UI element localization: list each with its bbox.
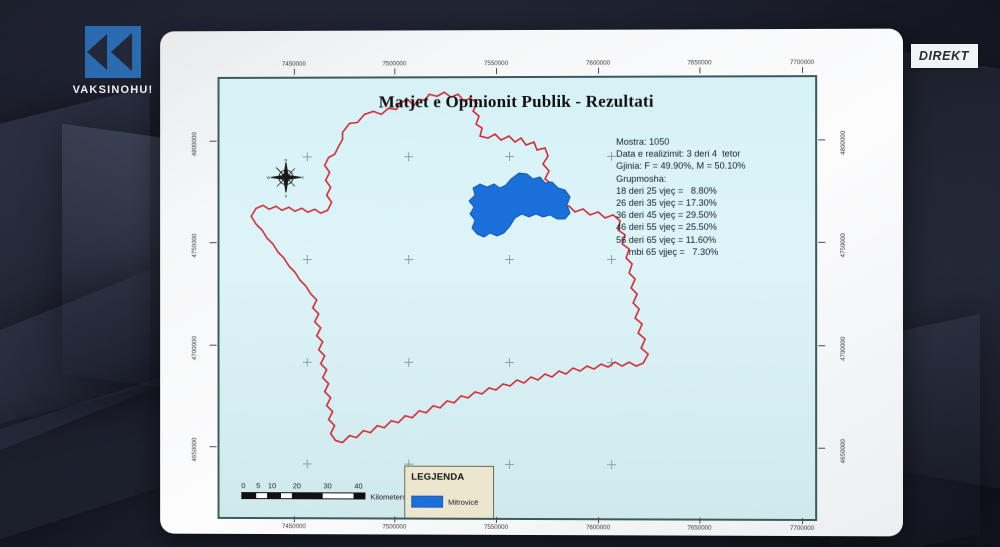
map-xtick-mark xyxy=(496,68,497,74)
scalebar-tick: 20 xyxy=(293,481,301,490)
map-legend: LEGJENDA Mitrovicë xyxy=(404,466,494,519)
legend-swatch-mitrovice xyxy=(411,496,443,508)
map-xtick-bottom: 7600000 xyxy=(586,524,610,531)
map-ytick-right: 4800000 xyxy=(840,131,847,155)
scalebar-bar xyxy=(241,492,365,499)
kosovo-border-path xyxy=(251,92,648,444)
map-frame: Matjet e Opinionit Publik - Rezultati Mo… xyxy=(218,75,818,521)
map-xtick-bottom: 7450000 xyxy=(282,523,306,530)
live-badge-label: DIREKT xyxy=(919,49,969,63)
k-chevron-logo-icon xyxy=(85,26,141,78)
map-ytick-left: 4750000 xyxy=(191,234,198,258)
map-xtick-top: 7450000 xyxy=(282,61,306,68)
map-ytick-mark xyxy=(818,448,825,449)
presentation-slide: Matjet e Opinionit Publik - Rezultati Mo… xyxy=(160,29,903,537)
map-xtick-bottom: 7700000 xyxy=(790,525,814,532)
map-xtick-mark xyxy=(294,516,295,522)
map-ytick-mark xyxy=(818,345,825,346)
map-ytick-left: 4800000 xyxy=(191,132,198,156)
map-xtick-mark xyxy=(598,517,599,523)
map-ytick-mark xyxy=(210,446,217,447)
compass-east-label: E xyxy=(301,175,304,180)
map-ytick-mark xyxy=(210,141,217,142)
map-scalebar: 0 5 10 20 30 40 xyxy=(241,481,400,499)
map-ytick-right: 4750000 xyxy=(840,233,847,257)
map-xtick-mark xyxy=(496,517,497,523)
map-xtick-top: 7650000 xyxy=(687,59,711,66)
map-ytick-right: 4650000 xyxy=(840,439,847,463)
map-xtick-mark xyxy=(394,68,395,74)
map-ytick-mark xyxy=(210,242,217,243)
logo-label: VAKSINOHU! xyxy=(60,84,166,96)
map-ytick-left: 4650000 xyxy=(191,438,198,462)
compass-south-label: S xyxy=(285,193,288,198)
map-ytick-mark xyxy=(818,139,825,140)
map-xtick-mark xyxy=(699,67,700,73)
map-xtick-top: 7550000 xyxy=(484,60,508,67)
map-xtick-top: 7700000 xyxy=(790,59,814,66)
map-xtick-bottom: 7500000 xyxy=(382,523,406,530)
map-xtick-bottom: 7650000 xyxy=(687,525,711,532)
compass-rose-icon: N S W E xyxy=(265,156,307,198)
legend-title: LEGJENDA xyxy=(411,472,487,483)
map-xtick-bottom: 7550000 xyxy=(484,524,508,531)
scalebar-unit-label: Kilometers xyxy=(370,492,406,501)
map-xtick-mark xyxy=(394,517,395,523)
scalebar-tick: 10 xyxy=(268,481,276,490)
map-ytick-mark xyxy=(210,345,217,346)
map-xtick-top: 7500000 xyxy=(382,60,406,67)
map-xtick-mark xyxy=(598,68,599,74)
map-xtick-mark xyxy=(699,518,700,524)
mitrovica-region-path xyxy=(469,173,570,237)
compass-north-label: N xyxy=(285,157,288,162)
scalebar-tick: 30 xyxy=(324,481,332,490)
scalebar-ticks: 0 5 10 20 30 40 xyxy=(241,481,400,492)
scalebar-tick: 5 xyxy=(256,481,260,490)
compass-west-label: W xyxy=(267,175,271,180)
map-ytick-mark xyxy=(818,242,825,243)
map-ytick-left: 4700000 xyxy=(191,336,198,360)
map-xtick-mark xyxy=(802,67,803,73)
map-canvas: Matjet e Opinionit Publik - Rezultati Mo… xyxy=(220,77,816,519)
map-xtick-top: 7600000 xyxy=(586,60,610,67)
live-badge: DIREKT xyxy=(911,44,978,68)
scalebar-tick: 40 xyxy=(354,481,362,490)
map-title: Matjet e Opinionit Publik - Rezultati xyxy=(220,91,816,113)
broadcast-screen: VAKSINOHU! DIREKT xyxy=(0,0,1000,547)
scalebar-tick: 0 xyxy=(241,481,245,490)
map-xtick-mark xyxy=(802,518,803,524)
survey-stats-block: Mostra: 1050 Data e realizimit: 3 deri 4… xyxy=(616,136,745,258)
legend-entry-label: Mitrovicë xyxy=(448,497,478,506)
channel-logo: VAKSINOHU! xyxy=(60,26,166,96)
legend-entry: Mitrovicë xyxy=(411,496,487,508)
map-ytick-right: 4700000 xyxy=(840,337,847,361)
map-xtick-mark xyxy=(294,69,295,75)
